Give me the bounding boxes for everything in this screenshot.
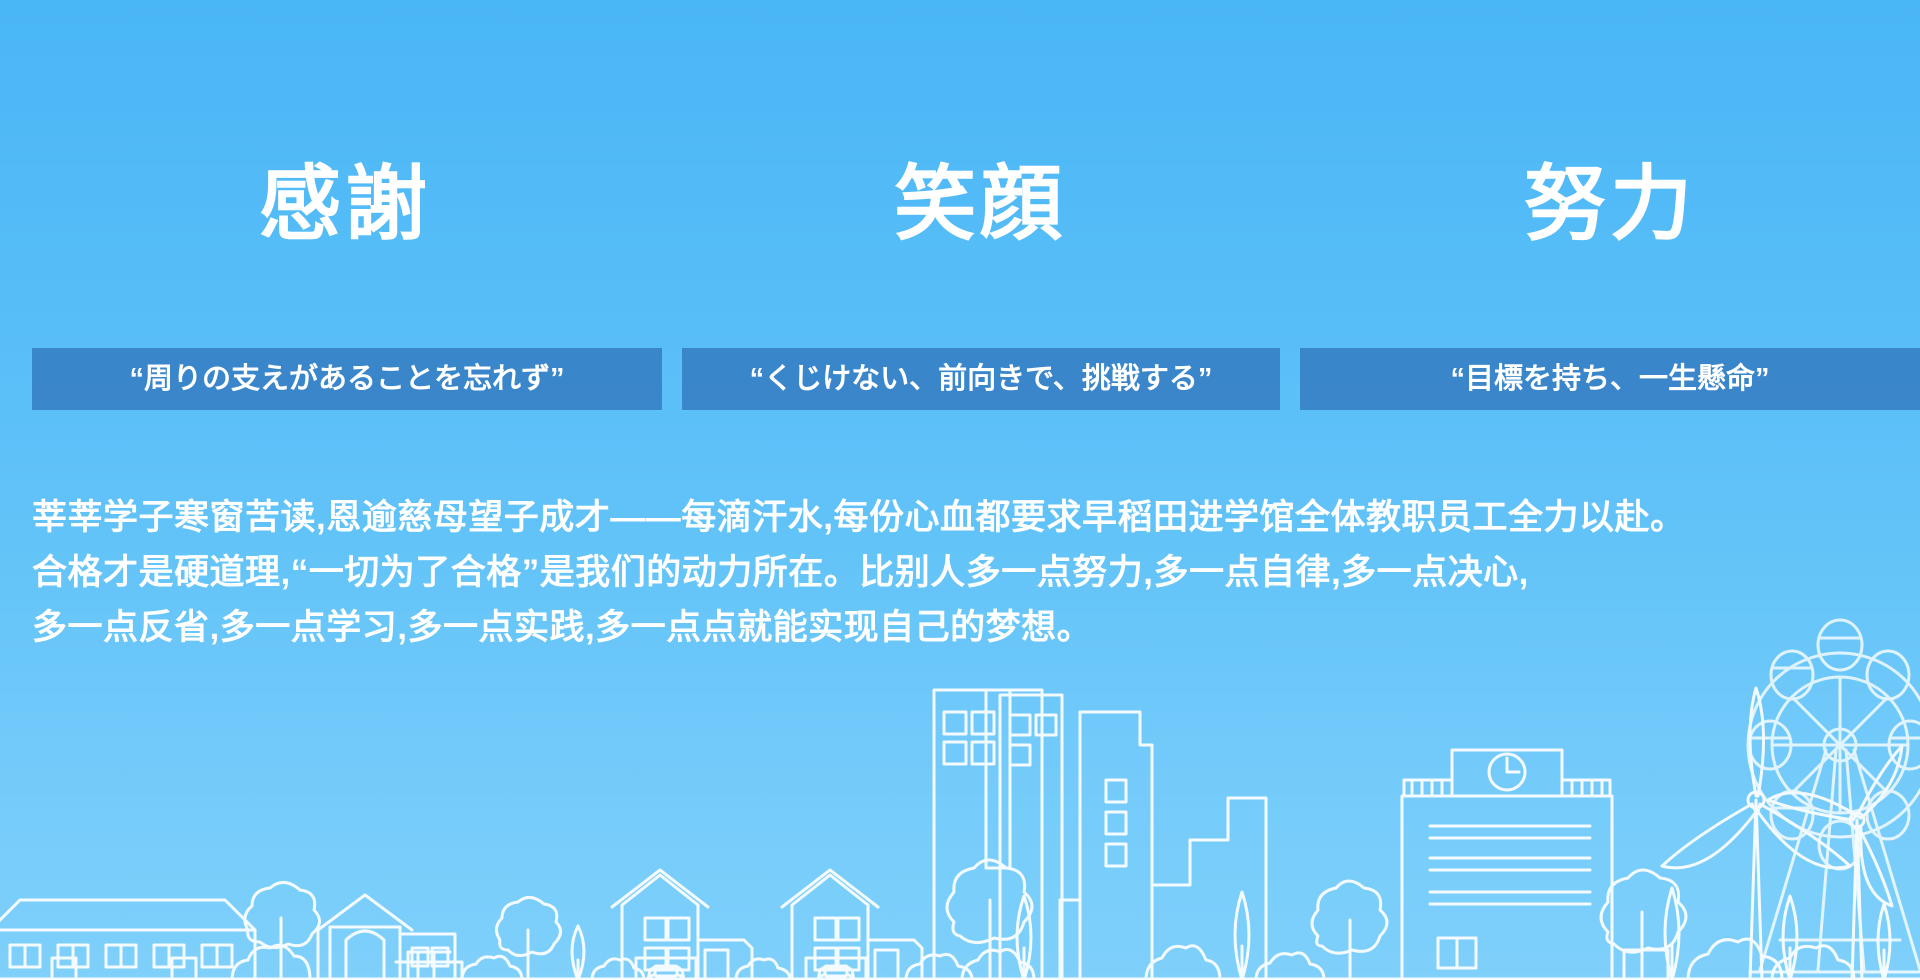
- car-in-garage-icon: [806, 958, 866, 980]
- bush-icon: [1688, 939, 1782, 980]
- cypress-tree-icon: [1017, 896, 1031, 980]
- bush-icon: [232, 945, 310, 980]
- small-building-icon: [1624, 950, 1668, 980]
- paragraph-line-1: 莘莘学子寒窗苦读,恩逾慈母望子成才——每滴汗水,每份心血都要求早稻田进学馆全体教…: [32, 490, 1902, 545]
- clock-tower-building-icon: [1402, 750, 1612, 980]
- wind-turbine-icon: [1768, 746, 1902, 980]
- door-icon: [875, 950, 898, 980]
- tree-icon: [1312, 881, 1387, 980]
- ribbon-bar-doryoku: “目標を持ち、一生懸命”: [1300, 348, 1920, 410]
- slide-canvas: 感謝 笑顔 努力 “周りの支えがあることを忘れず” “くじけない、前向きで、挑戦…: [0, 0, 1920, 980]
- cypress-tree-icon: [572, 926, 584, 980]
- heading-egao: 笑顔: [680, 150, 1280, 260]
- heading-kansha: 感謝: [30, 150, 660, 260]
- office-tower-icon: [934, 690, 1042, 980]
- bush-icon: [906, 954, 972, 980]
- city-skyline-illustration: [0, 600, 1920, 980]
- headings-row: 感謝 笑顔 努力: [0, 150, 1920, 270]
- apartment-tower-icon: [1060, 712, 1152, 980]
- bush-icon: [462, 956, 522, 980]
- ribbon-bar-egao: “くじけない、前向きで、挑戦する”: [682, 348, 1280, 410]
- cypress-tree-icon: [1783, 896, 1797, 980]
- office-tower-icon: [1000, 695, 1062, 980]
- tree-icon: [1601, 870, 1686, 980]
- bush-icon: [736, 959, 790, 980]
- ferris-wheel-icon: [1748, 620, 1920, 972]
- cypress-tree-icon: [1665, 888, 1679, 980]
- car-in-garage-icon: [636, 958, 696, 980]
- heading-doryoku: 努力: [1300, 150, 1920, 260]
- tree-icon: [496, 897, 560, 980]
- stepped-building-icon: [1152, 798, 1266, 980]
- ribbon-bar-kansha: “周りの支えがあることを忘れず”: [32, 348, 662, 410]
- cypress-tree-icon: [1235, 892, 1249, 980]
- body-paragraph: 莘莘学子寒窗苦读,恩逾慈母望子成才——每滴汗水,每份心血都要求早稻田进学馆全体教…: [32, 490, 1902, 655]
- tree-icon: [245, 882, 320, 980]
- wind-turbine-icon: [1662, 688, 1850, 980]
- long-low-building-icon: [0, 900, 255, 980]
- door-icon: [705, 950, 728, 980]
- tree-icon: [947, 860, 1032, 980]
- bush-icon: [1772, 946, 1854, 980]
- house-icon: [612, 870, 752, 980]
- cypress-tree-icon: [1878, 904, 1890, 980]
- bush-icon: [1146, 946, 1220, 980]
- house-icon: [782, 870, 922, 980]
- bush-icon: [962, 950, 1034, 980]
- villa-icon: [318, 895, 462, 980]
- paragraph-line-2: 合格才是硬道理,“一切为了合格”是我们的动力所在。比别人多一点努力,多一点自律,…: [32, 545, 1902, 600]
- bush-icon: [1256, 953, 1324, 980]
- paragraph-line-3: 多一点反省,多一点学习,多一点实践,多一点点就能实现自己的梦想。: [32, 600, 1902, 655]
- bush-icon: [592, 959, 644, 980]
